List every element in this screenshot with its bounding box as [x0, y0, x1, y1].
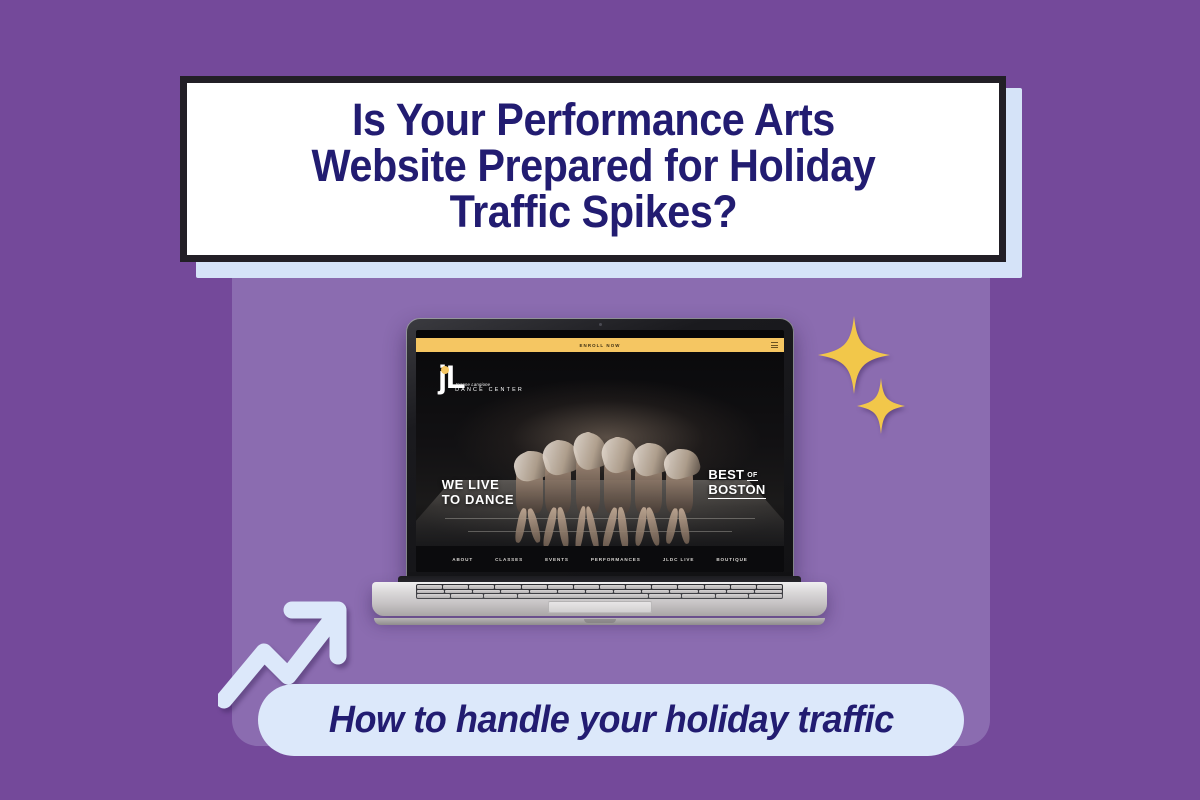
nav-item-events[interactable]: EVENTS — [545, 557, 569, 562]
enroll-now-banner[interactable]: ENROLL NOW — [416, 338, 784, 352]
caption-pill: How to handle your holiday traffic — [258, 684, 964, 756]
caption-text: How to handle your holiday traffic — [329, 699, 894, 742]
dancer-photo-group — [512, 379, 718, 534]
sparkle-star-icon — [857, 378, 905, 434]
laptop-screen: ENROLL NOW — [416, 330, 784, 572]
nav-item-about[interactable]: ABOUT — [452, 557, 473, 562]
logo-letters: jL — [438, 359, 464, 395]
dancer-figure — [604, 437, 631, 513]
nav-item-boutique[interactable]: BOUTIQUE — [716, 557, 747, 562]
hamburger-menu-icon[interactable] — [771, 342, 778, 348]
logo-mark: jL — [438, 364, 524, 392]
dancer-figure — [545, 440, 572, 513]
laptop-lid: ENROLL NOW — [406, 318, 794, 580]
site-logo[interactable]: jL Joanne Langione DANCE CENTER — [438, 364, 524, 395]
nav-item-performances[interactable]: PERFORMANCES — [591, 557, 641, 562]
badge-of-label: OF — [747, 472, 757, 481]
laptop-open-notch — [584, 619, 616, 623]
laptop-keyboard — [416, 584, 783, 599]
best-of-boston-badge: BEST OF BOSTON — [708, 468, 765, 499]
laptop-mockup: ENROLL NOW — [372, 318, 827, 648]
poster-canvas: Is Your Performance Arts Website Prepare… — [0, 0, 1200, 800]
dancer-figure — [666, 449, 693, 513]
badge-boston-label: BOSTON — [708, 483, 765, 499]
laptop-base — [372, 576, 827, 622]
enroll-now-label: ENROLL NOW — [580, 343, 621, 348]
nav-item-classes[interactable]: CLASSES — [495, 557, 523, 562]
webcam-icon — [599, 323, 602, 326]
site-nav: ABOUT CLASSES EVENTS PERFORMANCES JLDC L… — [416, 546, 784, 572]
keyboard-row — [417, 594, 782, 598]
dancer-figure — [635, 443, 662, 513]
badge-best-label: BEST — [708, 468, 744, 481]
page-title: Is Your Performance Arts Website Prepare… — [311, 97, 875, 235]
nav-item-jldc-live[interactable]: JLDC LIVE — [663, 557, 695, 562]
laptop-trackpad — [548, 601, 652, 613]
keyboard-row — [417, 585, 782, 589]
laptop-body — [372, 582, 827, 616]
hero-headline: WE LIVE TO DANCE — [442, 478, 514, 507]
title-card: Is Your Performance Arts Website Prepare… — [180, 76, 1006, 262]
keyboard-row — [417, 590, 782, 594]
logo-yellow-dot-icon — [441, 366, 449, 374]
dancer-figure — [576, 432, 601, 513]
dancer-figure — [516, 451, 543, 513]
hero-section: jL Joanne Langione DANCE CENTER WE LIVE … — [416, 352, 784, 546]
